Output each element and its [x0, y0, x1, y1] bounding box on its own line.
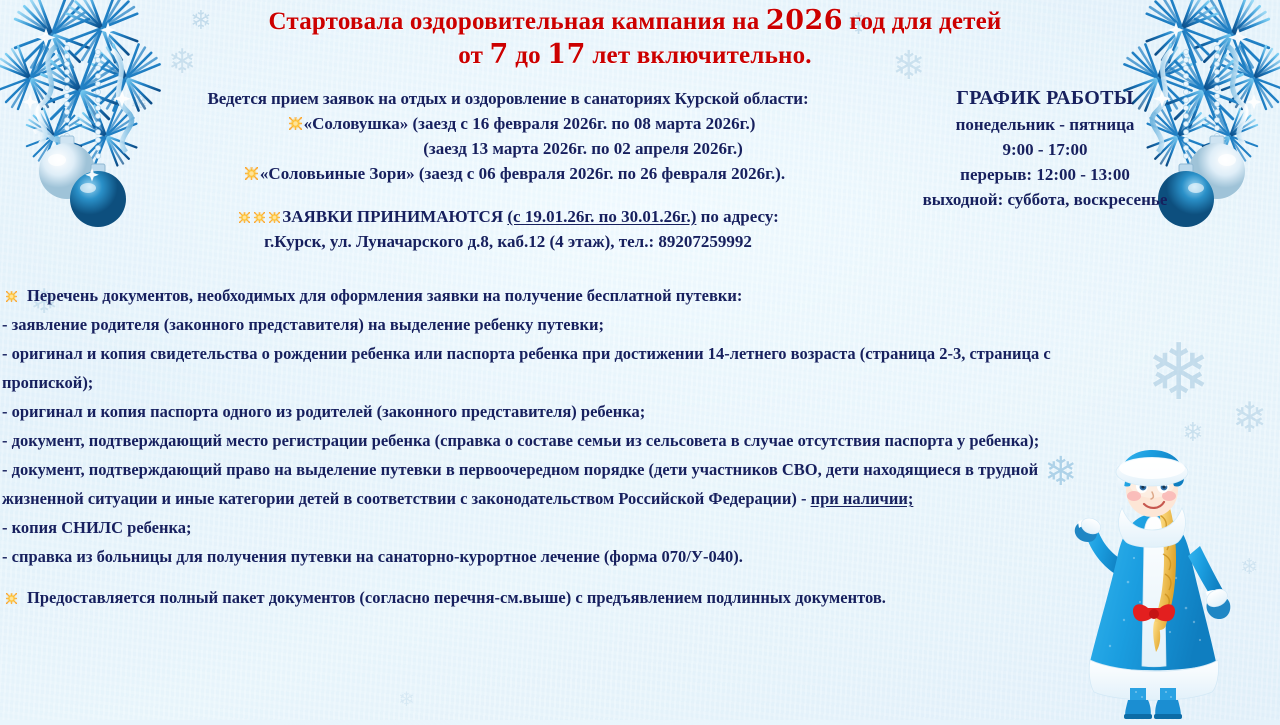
sanatorium-2-text: (заезд 13 марта 2026г. по 02 апреля 2026… [423, 139, 743, 158]
documents-heading: Перечень документов, необходимых для офо… [0, 281, 1075, 310]
document-item: - копия СНИЛС ребенка; [0, 513, 1075, 542]
snowflake-icon: ❄ [1182, 420, 1204, 446]
schedule-weekend: выходной: суббота, воскресенье [880, 187, 1210, 212]
sparkle-icon [254, 212, 265, 223]
apply-period: (с 19.01.26г. по 30.01.26г.) [507, 207, 696, 226]
documents-footer-text: Предоставляется полный пакет документов … [19, 588, 886, 607]
sparkle-icon [6, 291, 17, 302]
apply-suffix: по адресу: [696, 207, 778, 226]
document-item: - оригинал и копия свидетельства о рожде… [0, 339, 1075, 397]
sanatorium-3-text: «Соловьиные Зори» (заезд с 06 февраля 20… [260, 164, 785, 183]
documents-section: Перечень документов, необходимых для офо… [0, 281, 1075, 612]
snegurochka-figure-icon [1066, 450, 1244, 720]
sparkle-icon [289, 117, 302, 130]
age-range-suffix: лет включительно. [586, 42, 812, 69]
document-item: - оригинал и копия паспорта одного из ро… [0, 397, 1075, 426]
title-line-2: от 7 до 17 лет включительно. [170, 38, 1100, 72]
schedule-break: перерыв: 12:00 - 13:00 [880, 162, 1210, 187]
document-item: - справка из больницы для получения путе… [0, 542, 1075, 571]
age-range-mid: до [509, 42, 547, 69]
sparkle-icon [269, 212, 280, 223]
poster-title: Стартовала оздоровительная кампания на 2… [170, 4, 1100, 72]
office-address: г.Курск, ул. Луначарского д.8, каб.12 (4… [128, 229, 888, 254]
documents-footer: Предоставляется полный пакет документов … [0, 583, 1075, 612]
sparkle-icon [239, 212, 250, 223]
schedule-title: ГРАФИК РАБОТЫ [880, 86, 1210, 112]
working-hours-panel: ГРАФИК РАБОТЫ понедельник - пятница 9:00… [880, 86, 1210, 212]
schedule-hours: 9:00 - 17:00 [880, 137, 1210, 162]
title-line-1: Стартовала оздоровительная кампания на 2… [170, 4, 1100, 38]
document-item: - заявление родителя (законного представ… [0, 310, 1075, 339]
snowflake-icon: ❄ [398, 690, 415, 710]
document-item-priority: - документ, подтверждающий право на выде… [0, 455, 1075, 513]
snowflake-icon: ❄ [1108, 612, 1128, 636]
sanatorium-1-text: «Соловушка» (заезд с 16 февраля 2026г. п… [304, 114, 756, 133]
priority-condition: при наличии; [811, 489, 914, 508]
age-max: 17 [547, 39, 586, 70]
intro-block: Ведется прием заявок на отдых и оздоровл… [128, 86, 888, 254]
sanatorium-row-3: «Соловьиные Зори» (заезд с 06 февраля 20… [128, 161, 888, 186]
title-line-1-prefix: Стартовала оздоровительная кампания на [268, 8, 765, 35]
snowflake-icon: ❄ [1240, 556, 1258, 578]
snowflake-icon: ❄ [1232, 398, 1267, 440]
age-min: 7 [490, 39, 509, 70]
title-line-1-suffix: год для детей [843, 8, 1001, 35]
title-year: 2026 [766, 5, 843, 36]
sanatorium-row-2: (заезд 13 марта 2026г. по 02 апреля 2026… [128, 136, 888, 161]
documents-heading-text: Перечень документов, необходимых для офо… [19, 286, 742, 305]
apply-label: ЗАЯВКИ ПРИНИМАЮТСЯ [282, 207, 503, 226]
intro-lead: Ведется прием заявок на отдых и оздоровл… [128, 86, 888, 111]
document-item: - документ, подтверждающий место регистр… [0, 426, 1075, 455]
sparkle-icon [245, 167, 258, 180]
sparkle-icon [6, 593, 17, 604]
application-period-row: ЗАЯВКИ ПРИНИМАЮТСЯ (с 19.01.26г. по 30.0… [128, 204, 888, 229]
age-range-prefix: от [458, 42, 489, 69]
snowflake-icon: ❄ [1146, 334, 1211, 412]
schedule-days: понедельник - пятница [880, 112, 1210, 137]
spacer [128, 186, 888, 200]
sanatorium-row-1: «Соловушка» (заезд с 16 февраля 2026г. п… [128, 111, 888, 136]
